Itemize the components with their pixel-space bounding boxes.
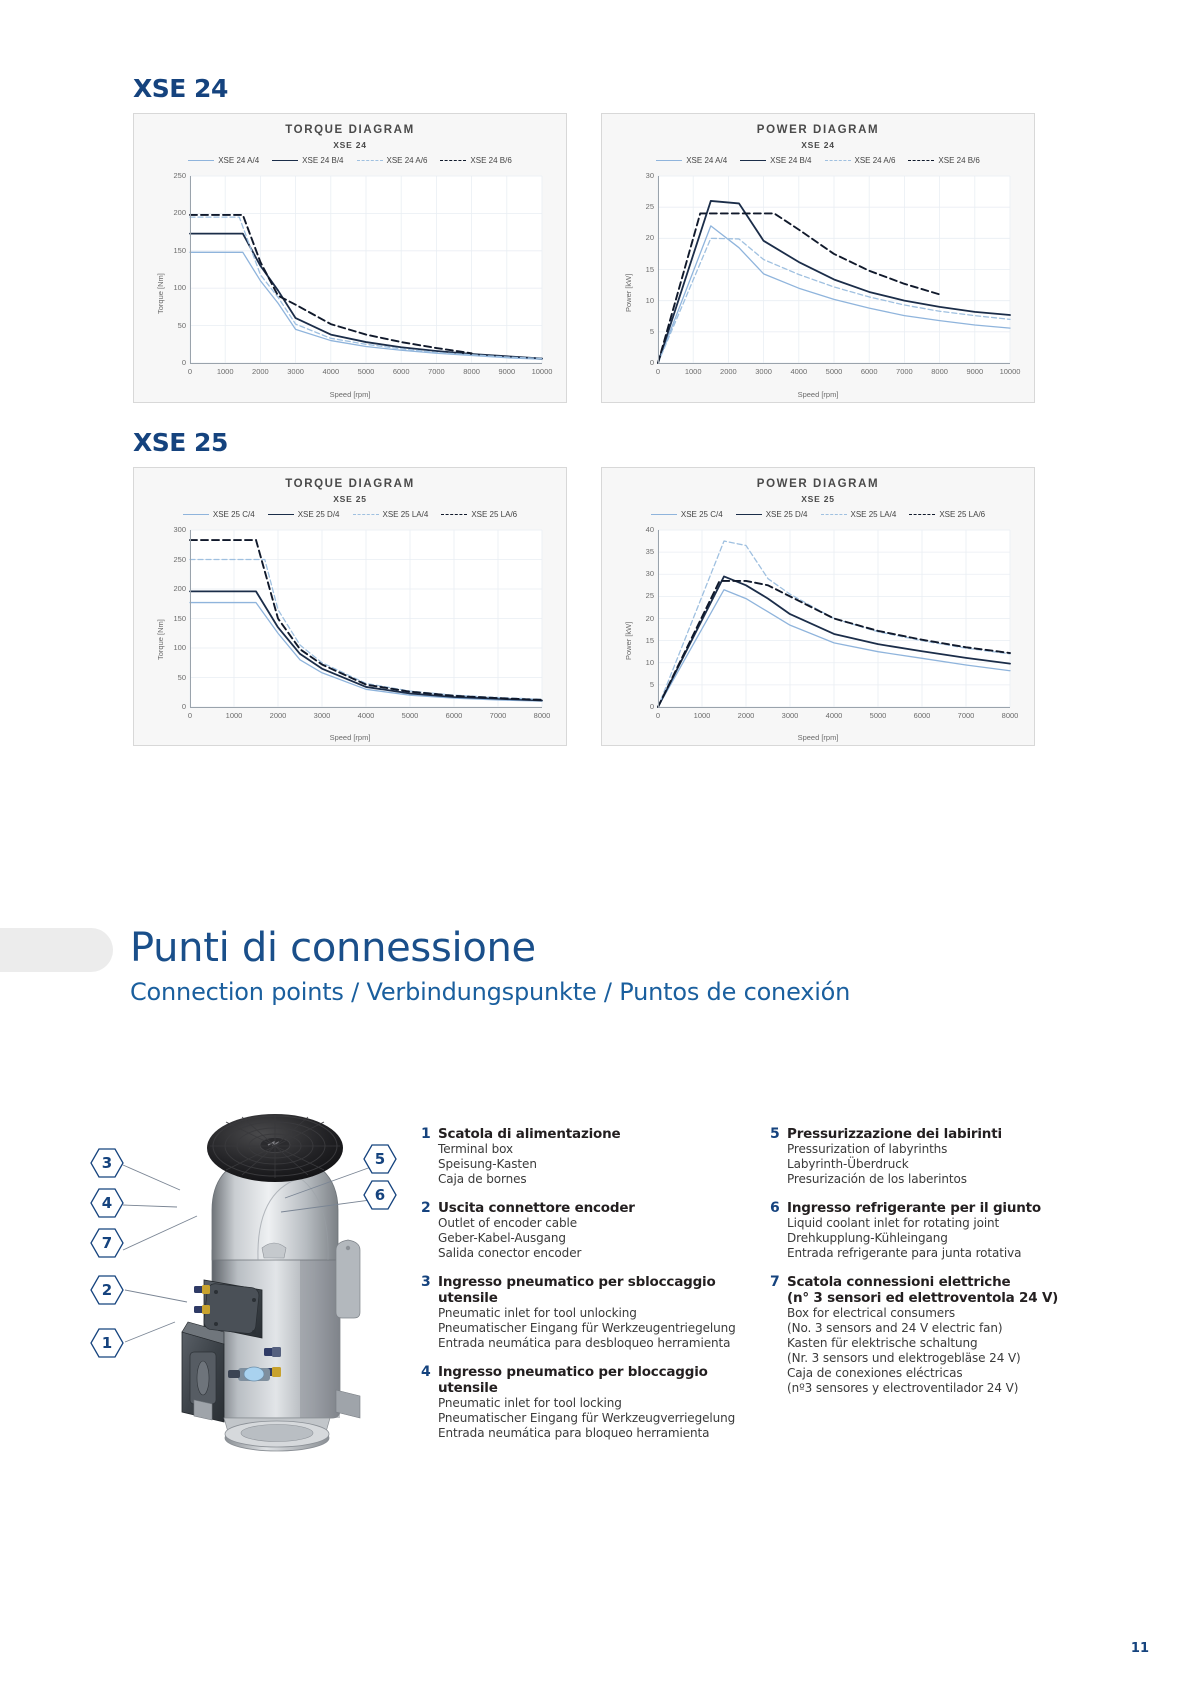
item-title-es: Entrada refrigerante para junta rotativa bbox=[787, 1246, 1070, 1261]
y-tick-label: 15 bbox=[628, 265, 654, 274]
x-tick-label: 10000 bbox=[524, 367, 560, 376]
list-item: 3 Ingresso pneumatico per sbloccaggio ut… bbox=[421, 1274, 751, 1351]
x-tick-label: 6000 bbox=[383, 367, 419, 376]
item-title-de: Pneumatischer Eingang für Werkzeugverrie… bbox=[438, 1411, 751, 1426]
x-axis-line bbox=[190, 707, 542, 708]
legend-swatch bbox=[909, 514, 935, 515]
chart-legend: XSE 25 C/4XSE 25 D/4XSE 25 LA/4XSE 25 LA… bbox=[134, 510, 566, 519]
legend-swatch bbox=[821, 514, 847, 515]
callout-number: 5 bbox=[363, 1144, 397, 1174]
callout-badge-3[interactable]: 3 bbox=[90, 1148, 124, 1178]
item-number: 2 bbox=[421, 1200, 438, 1261]
x-tick-label: 2000 bbox=[260, 711, 296, 720]
item-title-de: Speisung-Kasten bbox=[438, 1157, 751, 1172]
legend-label: XSE 24 A/4 bbox=[218, 156, 259, 165]
legend-item: XSE 24 A/6 bbox=[357, 156, 428, 165]
legend-item: XSE 24 B/6 bbox=[440, 156, 511, 165]
item-title-es: Entrada neumática para bloqueo herramien… bbox=[438, 1426, 751, 1441]
x-tick-label: 10000 bbox=[992, 367, 1028, 376]
x-tick-label: 6000 bbox=[904, 711, 940, 720]
callout-number: 3 bbox=[90, 1148, 124, 1178]
legend-swatch bbox=[188, 160, 214, 161]
item-title-it: Ingresso pneumatico per bloccaggio utens… bbox=[438, 1364, 751, 1396]
plot-area: 0501001502002503000100020003000400050006… bbox=[190, 530, 542, 707]
item-title-es: Caja de bornes bbox=[438, 1172, 751, 1187]
page-number: 11 bbox=[1131, 1641, 1149, 1656]
callout-badge-2[interactable]: 2 bbox=[90, 1275, 124, 1305]
legend-item: XSE 25 LA/4 bbox=[353, 510, 429, 519]
y-axis-title: Torque [Nm] bbox=[156, 619, 165, 660]
y-tick-label: 0 bbox=[628, 358, 654, 367]
item-number: 5 bbox=[770, 1126, 787, 1187]
legend-item: XSE 25 C/4 bbox=[183, 510, 255, 519]
legend-swatch bbox=[825, 160, 851, 161]
item-number: 7 bbox=[770, 1274, 787, 1396]
legend-label: XSE 25 C/4 bbox=[681, 510, 723, 519]
x-tick-label: 1000 bbox=[675, 367, 711, 376]
x-tick-label: 3000 bbox=[746, 367, 782, 376]
y-axis-line bbox=[190, 530, 191, 707]
plot-svg bbox=[190, 176, 542, 363]
chart-legend: XSE 24 A/4XSE 24 B/4XSE 24 A/6XSE 24 B/6 bbox=[134, 156, 566, 165]
item-title-en: Pneumatic inlet for tool locking bbox=[438, 1396, 751, 1411]
callout-badge-4[interactable]: 4 bbox=[90, 1188, 124, 1218]
x-tick-label: 1000 bbox=[684, 711, 720, 720]
chart-title: POWER DIAGRAM bbox=[602, 478, 1034, 490]
item-title-es: Entrada neumática para desbloqueo herram… bbox=[438, 1336, 751, 1351]
y-tick-label: 150 bbox=[160, 246, 186, 255]
y-tick-label: 20 bbox=[628, 233, 654, 242]
y-tick-label: 200 bbox=[160, 208, 186, 217]
item-title-it: Scatola di alimentazione bbox=[438, 1126, 751, 1142]
x-axis-line bbox=[190, 363, 542, 364]
x-tick-label: 0 bbox=[640, 711, 676, 720]
x-axis-title: Speed [rpm] bbox=[602, 390, 1034, 399]
y-tick-label: 250 bbox=[160, 555, 186, 564]
item-title-de: Labyrinth-Überdruck bbox=[787, 1157, 1070, 1172]
x-tick-label: 8000 bbox=[524, 711, 560, 720]
y-axis-line bbox=[658, 530, 659, 707]
item-title-it: Ingresso refrigerante per il giunto bbox=[787, 1200, 1070, 1216]
legend-label: XSE 25 D/4 bbox=[298, 510, 340, 519]
legend-item: XSE 24 A/4 bbox=[188, 156, 259, 165]
callout-number: 6 bbox=[363, 1180, 397, 1210]
x-tick-label: 5000 bbox=[860, 711, 896, 720]
legend-item: XSE 25 C/4 bbox=[651, 510, 723, 519]
chart-legend: XSE 24 A/4XSE 24 B/4XSE 24 A/6XSE 24 B/6 bbox=[602, 156, 1034, 165]
y-tick-label: 0 bbox=[160, 702, 186, 711]
y-tick-label: 300 bbox=[160, 525, 186, 534]
legend-label: XSE 25 C/4 bbox=[213, 510, 255, 519]
legend-item: XSE 25 LA/6 bbox=[909, 510, 985, 519]
x-tick-label: 0 bbox=[172, 367, 208, 376]
x-tick-label: 3000 bbox=[772, 711, 808, 720]
model-title-xse25: XSE 25 bbox=[133, 428, 228, 457]
x-tick-label: 0 bbox=[640, 367, 676, 376]
callout-badge-7[interactable]: 7 bbox=[90, 1228, 124, 1258]
item-title-it: Pressurizzazione dei labirinti bbox=[787, 1126, 1070, 1142]
x-tick-label: 6000 bbox=[436, 711, 472, 720]
chart-power-xse24: POWER DIAGRAM XSE 24 XSE 24 A/4XSE 24 B/… bbox=[601, 113, 1035, 403]
y-tick-label: 40 bbox=[628, 525, 654, 534]
legend-swatch bbox=[183, 514, 209, 515]
y-tick-label: 200 bbox=[160, 584, 186, 593]
x-tick-label: 4000 bbox=[313, 367, 349, 376]
legend-label: XSE 24 A/6 bbox=[855, 156, 896, 165]
legend-swatch bbox=[272, 160, 298, 161]
item-title-en: Box for electrical consumers bbox=[787, 1306, 1070, 1321]
legend-swatch bbox=[736, 514, 762, 515]
list-item: 5 Pressurizzazione dei labirinti Pressur… bbox=[770, 1126, 1070, 1187]
legend-swatch bbox=[353, 514, 379, 515]
item-title-en: Liquid coolant inlet for rotating joint bbox=[787, 1216, 1070, 1231]
legend-swatch bbox=[656, 160, 682, 161]
x-axis-title: Speed [rpm] bbox=[134, 733, 566, 742]
x-tick-label: 7000 bbox=[886, 367, 922, 376]
callout-number: 1 bbox=[90, 1328, 124, 1358]
list-item: 2 Uscita connettore encoder Outlet of en… bbox=[421, 1200, 751, 1261]
x-axis-title: Speed [rpm] bbox=[602, 733, 1034, 742]
legend-label: XSE 24 B/4 bbox=[302, 156, 343, 165]
chart-torque-xse25: TORQUE DIAGRAM XSE 25 XSE 25 C/4XSE 25 D… bbox=[133, 467, 567, 746]
x-tick-label: 8000 bbox=[922, 367, 958, 376]
legend-swatch bbox=[441, 514, 467, 515]
legend-item: XSE 24 A/6 bbox=[825, 156, 896, 165]
x-tick-label: 3000 bbox=[304, 711, 340, 720]
item-title-it: Ingresso pneumatico per sbloccaggio uten… bbox=[438, 1274, 751, 1306]
x-tick-label: 2000 bbox=[710, 367, 746, 376]
plot-svg bbox=[658, 176, 1010, 363]
x-tick-label: 8000 bbox=[992, 711, 1028, 720]
legend-swatch bbox=[268, 514, 294, 515]
legend-label: XSE 25 LA/4 bbox=[851, 510, 897, 519]
legend-item: XSE 24 B/6 bbox=[908, 156, 979, 165]
x-tick-label: 8000 bbox=[454, 367, 490, 376]
plot-area: 0510152025303540010002000300040005000600… bbox=[658, 530, 1010, 707]
list-item: 7 Scatola connessioni elettriche (n° 3 s… bbox=[770, 1274, 1070, 1396]
callout-number: 7 bbox=[90, 1228, 124, 1258]
model-title-xse24: XSE 24 bbox=[133, 74, 228, 103]
x-tick-label: 3000 bbox=[278, 367, 314, 376]
legend-label: XSE 24 B/4 bbox=[770, 156, 811, 165]
y-tick-label: 35 bbox=[628, 547, 654, 556]
legend-swatch bbox=[651, 514, 677, 515]
item-number: 3 bbox=[421, 1274, 438, 1351]
x-tick-label: 7000 bbox=[418, 367, 454, 376]
plot-area: 0501001502002500100020003000400050006000… bbox=[190, 176, 542, 363]
item-title-es2: (nº3 sensores y electroventilador 24 V) bbox=[787, 1381, 1070, 1396]
item-title-es: Presurización de los laberintos bbox=[787, 1172, 1070, 1187]
x-tick-label: 6000 bbox=[851, 367, 887, 376]
item-title-en: Terminal box bbox=[438, 1142, 751, 1157]
y-tick-label: 50 bbox=[160, 673, 186, 682]
y-tick-label: 5 bbox=[628, 680, 654, 689]
y-tick-label: 50 bbox=[160, 321, 186, 330]
item-title-it: Uscita connettore encoder bbox=[438, 1200, 751, 1216]
list-item: 4 Ingresso pneumatico per bloccaggio ute… bbox=[421, 1364, 751, 1441]
legend-item: XSE 24 B/4 bbox=[740, 156, 811, 165]
x-tick-label: 2000 bbox=[728, 711, 764, 720]
chart-subtitle: XSE 24 bbox=[134, 140, 566, 150]
chart-subtitle: XSE 24 bbox=[602, 140, 1034, 150]
legend-item: XSE 25 LA/6 bbox=[441, 510, 517, 519]
callout-badge-5[interactable]: 5 bbox=[363, 1144, 397, 1174]
legend-label: XSE 25 LA/6 bbox=[939, 510, 985, 519]
legend-item: XSE 24 B/4 bbox=[272, 156, 343, 165]
legend-item: XSE 25 D/4 bbox=[736, 510, 808, 519]
section-tab-decoration bbox=[0, 928, 113, 972]
page-subtitle: Connection points / Verbindungspunkte / … bbox=[130, 978, 850, 1006]
x-tick-label: 9000 bbox=[957, 367, 993, 376]
legend-swatch bbox=[440, 160, 466, 161]
legend-label: XSE 24 B/6 bbox=[938, 156, 979, 165]
list-item: 6 Ingresso refrigerante per il giunto Li… bbox=[770, 1200, 1070, 1261]
item-title-de: Kasten für elektrische schaltung bbox=[787, 1336, 1070, 1351]
plot-area: 0510152025300100020003000400050006000700… bbox=[658, 176, 1010, 363]
x-tick-label: 4000 bbox=[348, 711, 384, 720]
item-number: 1 bbox=[421, 1126, 438, 1187]
x-tick-label: 0 bbox=[172, 711, 208, 720]
legend-swatch bbox=[908, 160, 934, 161]
legend-label: XSE 24 A/4 bbox=[686, 156, 727, 165]
item-title-de: Pneumatischer Eingang für Werkzeugentrie… bbox=[438, 1321, 751, 1336]
plot-svg bbox=[190, 530, 542, 707]
callout-number: 2 bbox=[90, 1275, 124, 1305]
y-axis-title: Torque [Nm] bbox=[156, 273, 165, 314]
x-axis-line bbox=[658, 707, 1010, 708]
callout-badge-1[interactable]: 1 bbox=[90, 1328, 124, 1358]
x-tick-label: 9000 bbox=[489, 367, 525, 376]
item-title-de: Geber-Kabel-Ausgang bbox=[438, 1231, 751, 1246]
chart-title: TORQUE DIAGRAM bbox=[134, 478, 566, 490]
item-title-es: Caja de conexiones eléctricas bbox=[787, 1366, 1070, 1381]
x-tick-label: 5000 bbox=[348, 367, 384, 376]
item-title-it: Scatola connessioni elettriche bbox=[787, 1274, 1070, 1290]
connection-points-right-column: 5 Pressurizzazione dei labirinti Pressur… bbox=[770, 1126, 1070, 1409]
chart-title: POWER DIAGRAM bbox=[602, 124, 1034, 136]
y-tick-label: 0 bbox=[628, 702, 654, 711]
item-title-es: Salida conector encoder bbox=[438, 1246, 751, 1261]
item-title-en: Pneumatic inlet for tool unlocking bbox=[438, 1306, 751, 1321]
y-tick-label: 0 bbox=[160, 358, 186, 367]
x-axis-title: Speed [rpm] bbox=[134, 390, 566, 399]
legend-label: XSE 24 A/6 bbox=[387, 156, 428, 165]
chart-subtitle: XSE 25 bbox=[134, 494, 566, 504]
legend-item: XSE 25 LA/4 bbox=[821, 510, 897, 519]
y-axis-line bbox=[190, 176, 191, 363]
item-title-de: Drehkupplung-Kühleingang bbox=[787, 1231, 1070, 1246]
chart-subtitle: XSE 25 bbox=[602, 494, 1034, 504]
x-tick-label: 7000 bbox=[948, 711, 984, 720]
chart-title: TORQUE DIAGRAM bbox=[134, 124, 566, 136]
chart-power-xse25: POWER DIAGRAM XSE 25 XSE 25 C/4XSE 25 D/… bbox=[601, 467, 1035, 746]
legend-item: XSE 25 D/4 bbox=[268, 510, 340, 519]
x-tick-label: 1000 bbox=[216, 711, 252, 720]
legend-label: XSE 25 D/4 bbox=[766, 510, 808, 519]
x-axis-line bbox=[658, 363, 1010, 364]
list-item: 1 Scatola di alimentazione Terminal box … bbox=[421, 1126, 751, 1187]
y-axis-title: Power [kW] bbox=[624, 622, 633, 660]
datasheet-page: XSE 24 XSE 25 TORQUE DIAGRAM XSE 24 XSE … bbox=[0, 0, 1191, 1684]
legend-swatch bbox=[357, 160, 383, 161]
connection-points-left-column: 1 Scatola di alimentazione Terminal box … bbox=[421, 1126, 751, 1454]
item-title-en: Pressurization of labyrinths bbox=[787, 1142, 1070, 1157]
item-title-de2: (Nr. 3 sensors und elektrogebläse 24 V) bbox=[787, 1351, 1070, 1366]
chart-torque-xse24: TORQUE DIAGRAM XSE 24 XSE 24 A/4XSE 24 B… bbox=[133, 113, 567, 403]
item-title-en: Outlet of encoder cable bbox=[438, 1216, 751, 1231]
x-tick-label: 2000 bbox=[242, 367, 278, 376]
y-tick-label: 5 bbox=[628, 327, 654, 336]
legend-label: XSE 25 LA/4 bbox=[383, 510, 429, 519]
legend-label: XSE 24 B/6 bbox=[470, 156, 511, 165]
x-tick-label: 7000 bbox=[480, 711, 516, 720]
y-axis-title: Power [kW] bbox=[624, 274, 633, 312]
x-tick-label: 4000 bbox=[781, 367, 817, 376]
item-number: 6 bbox=[770, 1200, 787, 1261]
item-title-it2: (n° 3 sensori ed elettroventola 24 V) bbox=[787, 1290, 1070, 1306]
chart-legend: XSE 25 C/4XSE 25 D/4XSE 25 LA/4XSE 25 LA… bbox=[602, 510, 1034, 519]
item-number: 4 bbox=[421, 1364, 438, 1441]
y-tick-label: 25 bbox=[628, 591, 654, 600]
callout-number: 4 bbox=[90, 1188, 124, 1218]
y-tick-label: 25 bbox=[628, 202, 654, 211]
item-title-en2: (No. 3 sensors and 24 V electric fan) bbox=[787, 1321, 1070, 1336]
legend-item: XSE 24 A/4 bbox=[656, 156, 727, 165]
y-axis-line bbox=[658, 176, 659, 363]
legend-swatch bbox=[740, 160, 766, 161]
x-tick-label: 5000 bbox=[816, 367, 852, 376]
x-tick-label: 5000 bbox=[392, 711, 428, 720]
x-tick-label: 1000 bbox=[207, 367, 243, 376]
plot-svg bbox=[658, 530, 1010, 707]
y-tick-label: 250 bbox=[160, 171, 186, 180]
page-title: Punti di connessione bbox=[130, 925, 536, 971]
y-tick-label: 30 bbox=[628, 569, 654, 578]
callout-badge-6[interactable]: 6 bbox=[363, 1180, 397, 1210]
y-tick-label: 30 bbox=[628, 171, 654, 180]
legend-label: XSE 25 LA/6 bbox=[471, 510, 517, 519]
x-tick-label: 4000 bbox=[816, 711, 852, 720]
